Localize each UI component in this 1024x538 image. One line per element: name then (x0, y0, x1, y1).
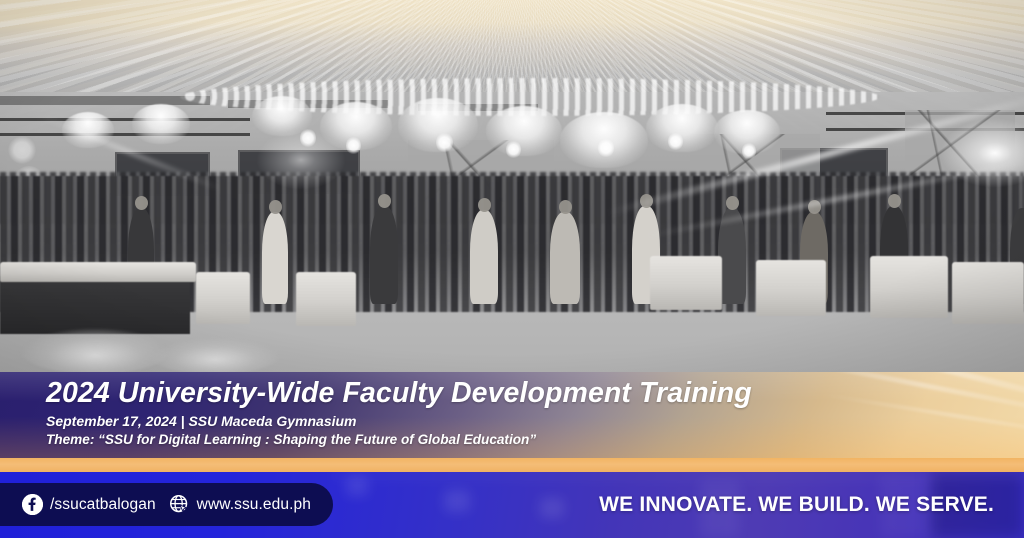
globe-cursor-icon (169, 494, 190, 515)
facebook-link[interactable]: /ssucatbalogan (22, 494, 156, 515)
website-link[interactable]: www.ssu.edu.ph (169, 494, 311, 515)
footer-decor (540, 498, 564, 518)
footer-decor (444, 490, 470, 512)
event-theme: Theme: “SSU for Digital Learning : Shapi… (46, 432, 752, 449)
social-links-pill: /ssucatbalogan www.ssu.edu.ph (0, 483, 333, 526)
event-banner: 2024 University-Wide Faculty Development… (0, 0, 1024, 538)
page-title: 2024 University-Wide Faculty Development… (46, 378, 752, 408)
facebook-handle: /ssucatbalogan (50, 496, 156, 514)
title-text-group: 2024 University-Wide Faculty Development… (46, 378, 752, 449)
website-url: www.ssu.edu.ph (197, 496, 311, 514)
facebook-icon (22, 494, 43, 515)
orange-divider (0, 458, 1024, 472)
event-date-venue: September 17, 2024 | SSU Maceda Gymnasiu… (46, 413, 752, 430)
photo-vignette (0, 0, 1024, 374)
event-photo (0, 0, 1024, 374)
institution-tagline: WE INNOVATE. WE BUILD. WE SERVE. (599, 493, 994, 517)
title-band: 2024 University-Wide Faculty Development… (0, 372, 1024, 458)
footer-bar: /ssucatbalogan www.ssu.edu.ph WE IN (0, 472, 1024, 538)
tagline-group: WE INNOVATE. WE BUILD. WE SERVE. (599, 472, 994, 538)
